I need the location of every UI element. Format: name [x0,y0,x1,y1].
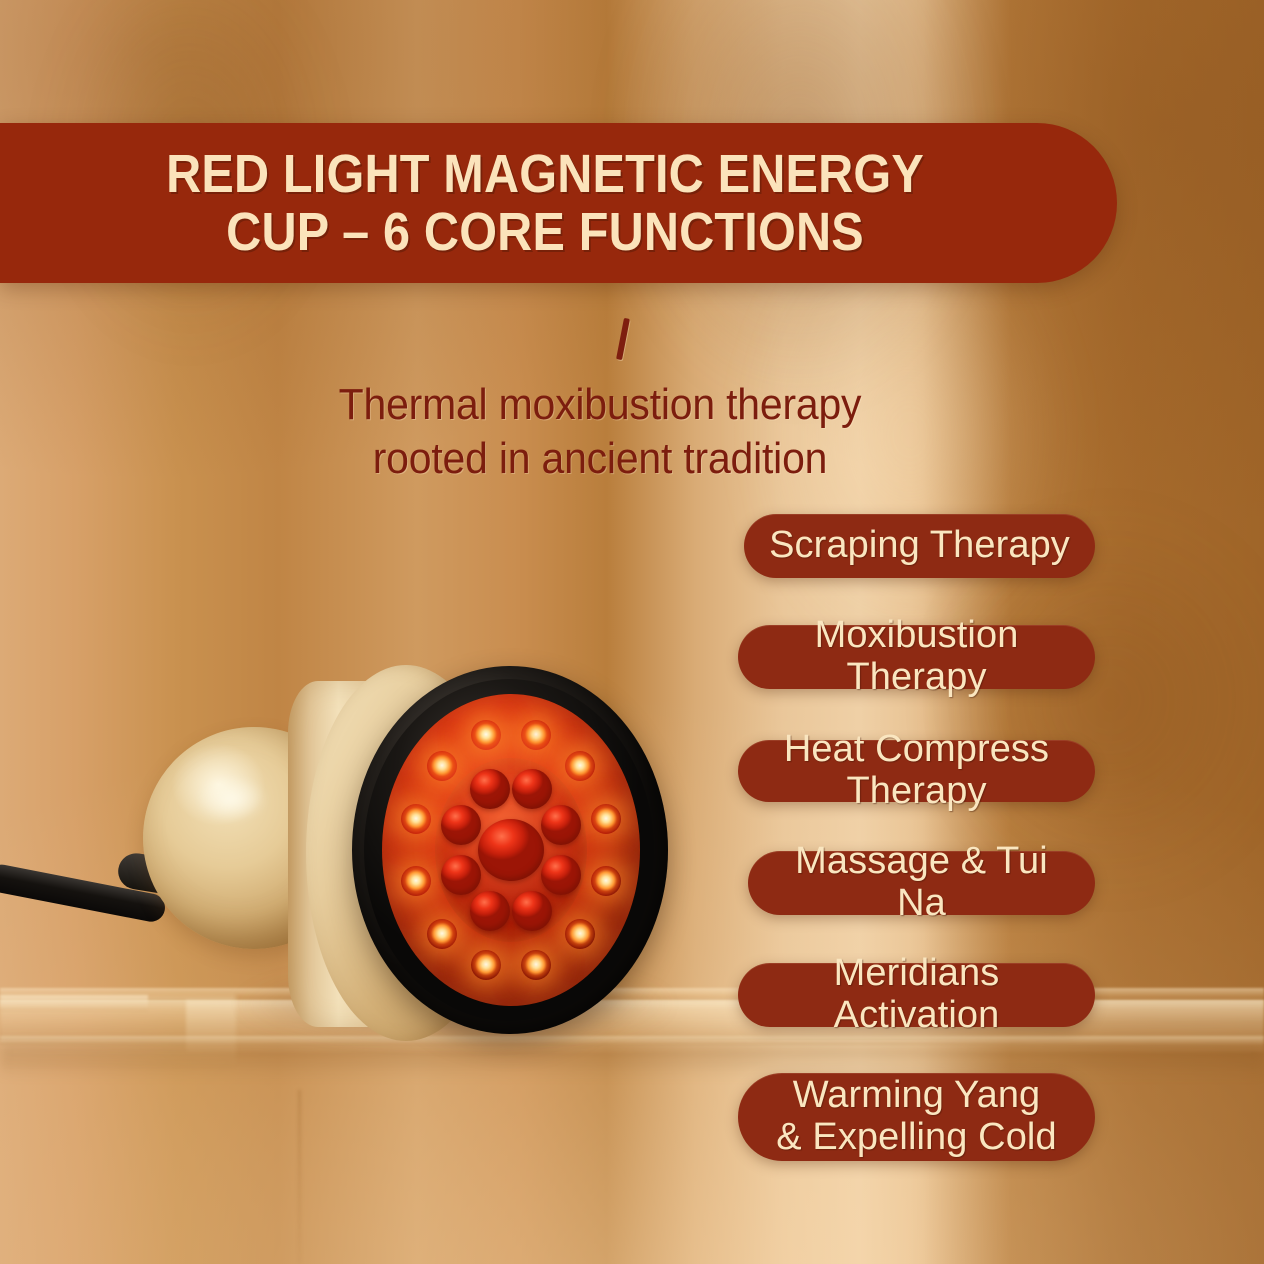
feature-pill-2[interactable]: Moxibustion Therapy [738,625,1095,689]
feature-pill-label: Scraping Therapy [769,525,1070,567]
feature-pill-list: Scraping TherapyMoxibustion TherapyHeat … [0,0,1264,1264]
feature-pill-6[interactable]: Warming Yang & Expelling Cold [738,1073,1095,1161]
feature-pill-1[interactable]: Scraping Therapy [744,514,1095,578]
feature-pill-5[interactable]: Meridians Activation [738,963,1095,1027]
promo-image-canvas: RED LIGHT MAGNETIC ENERGY CUP – 6 CORE F… [0,0,1264,1264]
feature-pill-label: Heat Compress Therapy [762,729,1071,813]
feature-pill-3[interactable]: Heat Compress Therapy [738,740,1095,802]
feature-pill-label: Massage & Tui Na [772,841,1071,925]
feature-pill-label: Meridians Activation [762,953,1071,1037]
feature-pill-label: Moxibustion Therapy [762,615,1071,699]
feature-pill-4[interactable]: Massage & Tui Na [748,851,1095,915]
feature-pill-label: Warming Yang & Expelling Cold [776,1075,1056,1159]
